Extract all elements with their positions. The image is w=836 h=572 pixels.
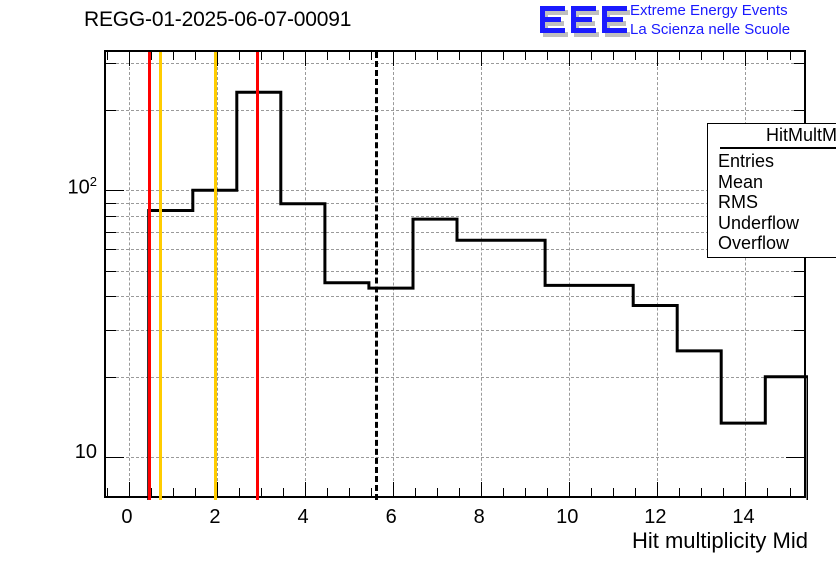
stats-row: Underflow0 — [708, 213, 836, 234]
y-tick-right — [794, 271, 804, 272]
y-tick — [106, 63, 116, 64]
y-tick-right — [794, 63, 804, 64]
x-tick-top — [327, 52, 328, 60]
x-axis-tick-label: 10 — [547, 506, 587, 529]
y-tick — [106, 232, 116, 233]
x-tick — [701, 488, 702, 496]
x-tick — [657, 482, 658, 496]
stats-row: Mean5.763 — [708, 172, 836, 193]
x-tick-top — [547, 52, 548, 60]
x-axis-tick-label: 0 — [107, 506, 147, 529]
y-tick — [106, 330, 116, 331]
x-tick-top — [679, 52, 680, 60]
y-axis-tick-label: 102 — [68, 174, 97, 200]
x-tick — [283, 488, 284, 496]
stats-rows: Entries1058Mean5.763RMS3.835Underflow0Ov… — [708, 151, 836, 254]
y-tick — [106, 190, 124, 191]
x-tick-top — [151, 52, 152, 60]
x-tick — [481, 482, 482, 496]
x-tick — [459, 488, 460, 496]
x-axis-tick-label: 6 — [371, 506, 411, 529]
y-tick — [106, 203, 116, 204]
x-tick — [503, 488, 504, 496]
x-tick-top — [767, 52, 768, 60]
x-tick — [217, 482, 218, 496]
plot-frame: HitMultMid Entries1058Mean5.763RMS3.835U… — [104, 50, 806, 498]
stats-box-title: HitMultMid — [708, 124, 836, 147]
x-tick — [679, 488, 680, 496]
x-axis-tick-label: 12 — [635, 506, 675, 529]
x-tick-top — [437, 52, 438, 60]
x-tick — [173, 488, 174, 496]
x-tick-top — [195, 52, 196, 60]
x-tick — [261, 488, 262, 496]
y-tick — [106, 271, 116, 272]
stats-row-key: RMS — [718, 192, 758, 213]
x-tick-top — [745, 52, 746, 66]
x-tick-top — [129, 52, 130, 66]
x-tick-top — [525, 52, 526, 60]
y-tick-right — [786, 457, 804, 458]
x-axis-tick-label: 2 — [195, 506, 235, 529]
marker-gold-line-high — [214, 52, 217, 500]
y-tick — [106, 457, 124, 458]
x-tick — [767, 488, 768, 496]
eee-logo-line2: La Scienza nelle Scuole — [630, 20, 836, 39]
eee-logo-text: Extreme Energy Events La Scienza nelle S… — [630, 1, 836, 41]
y-tick-right — [794, 296, 804, 297]
y-axis-tick-label: 10 — [75, 441, 97, 464]
stats-row-key: Underflow — [718, 213, 799, 234]
x-tick-top — [349, 52, 350, 60]
x-tick-top — [459, 52, 460, 60]
x-tick-top — [635, 52, 636, 60]
x-tick-top — [415, 52, 416, 60]
x-tick-top — [481, 52, 482, 66]
x-tick — [745, 482, 746, 496]
marker-red-line-low — [148, 52, 151, 500]
stats-row: Entries1058 — [708, 151, 836, 172]
x-tick-top — [503, 52, 504, 60]
y-tick-right — [794, 110, 804, 111]
x-tick-top — [790, 52, 791, 60]
x-tick — [613, 488, 614, 496]
x-tick — [129, 482, 130, 496]
stats-row: RMS3.835 — [708, 192, 836, 213]
stats-row-key: Mean — [718, 172, 763, 193]
x-tick-top — [283, 52, 284, 60]
x-tick — [349, 488, 350, 496]
x-tick — [569, 482, 570, 496]
x-tick — [437, 488, 438, 496]
x-tick — [790, 488, 791, 496]
x-tick-top — [657, 52, 658, 66]
x-tick-top — [261, 52, 262, 60]
stats-row-key: Entries — [718, 151, 774, 172]
x-tick — [723, 488, 724, 496]
eee-logo-mark — [538, 2, 630, 40]
y-tick — [106, 296, 116, 297]
y-tick — [106, 110, 116, 111]
x-axis-tick-label: 8 — [459, 506, 499, 529]
y-tick — [106, 377, 116, 378]
x-tick — [415, 488, 416, 496]
x-tick-top — [371, 52, 372, 60]
x-tick — [195, 488, 196, 496]
y-tick — [106, 216, 116, 217]
y-tick-right — [794, 330, 804, 331]
x-tick-top — [591, 52, 592, 60]
x-tick — [151, 488, 152, 496]
stats-row-key: Overflow — [718, 233, 789, 254]
x-tick — [327, 488, 328, 496]
marker-gold-line-low — [159, 52, 162, 500]
x-tick-top — [173, 52, 174, 60]
x-tick — [371, 488, 372, 496]
x-tick — [547, 488, 548, 496]
x-tick — [239, 488, 240, 496]
histogram-canvas — [106, 52, 808, 500]
y-tick — [106, 249, 116, 250]
histogram-curve — [106, 52, 808, 500]
x-tick-top — [217, 52, 218, 66]
eee-logo-line1: Extreme Energy Events — [630, 1, 836, 20]
eee-logo: Extreme Energy Events La Scienza nelle S… — [534, 1, 836, 43]
x-axis-tick-label: 4 — [283, 506, 323, 529]
stats-title-divider — [720, 147, 836, 149]
x-tick-top — [107, 52, 108, 60]
x-tick-top — [613, 52, 614, 60]
page-title: REGG-01-2025-06-07-00091 — [84, 8, 351, 32]
x-tick — [525, 488, 526, 496]
marker-mean-line — [375, 52, 378, 500]
x-tick-top — [701, 52, 702, 60]
y-tick-right — [794, 377, 804, 378]
x-tick-top — [569, 52, 570, 66]
x-tick-top — [723, 52, 724, 60]
x-tick-top — [305, 52, 306, 66]
x-axis-title: Hit multiplicity Mid — [632, 528, 808, 554]
x-tick — [393, 482, 394, 496]
x-tick — [305, 482, 306, 496]
x-tick — [107, 488, 108, 496]
stats-box[interactable]: HitMultMid Entries1058Mean5.763RMS3.835U… — [707, 123, 836, 258]
x-tick-top — [393, 52, 394, 66]
x-axis-tick-label: 14 — [723, 506, 763, 529]
marker-red-line-high — [256, 52, 259, 500]
x-tick — [635, 488, 636, 496]
x-tick-top — [239, 52, 240, 60]
x-tick — [591, 488, 592, 496]
stats-row: Overflow83 — [708, 233, 836, 254]
